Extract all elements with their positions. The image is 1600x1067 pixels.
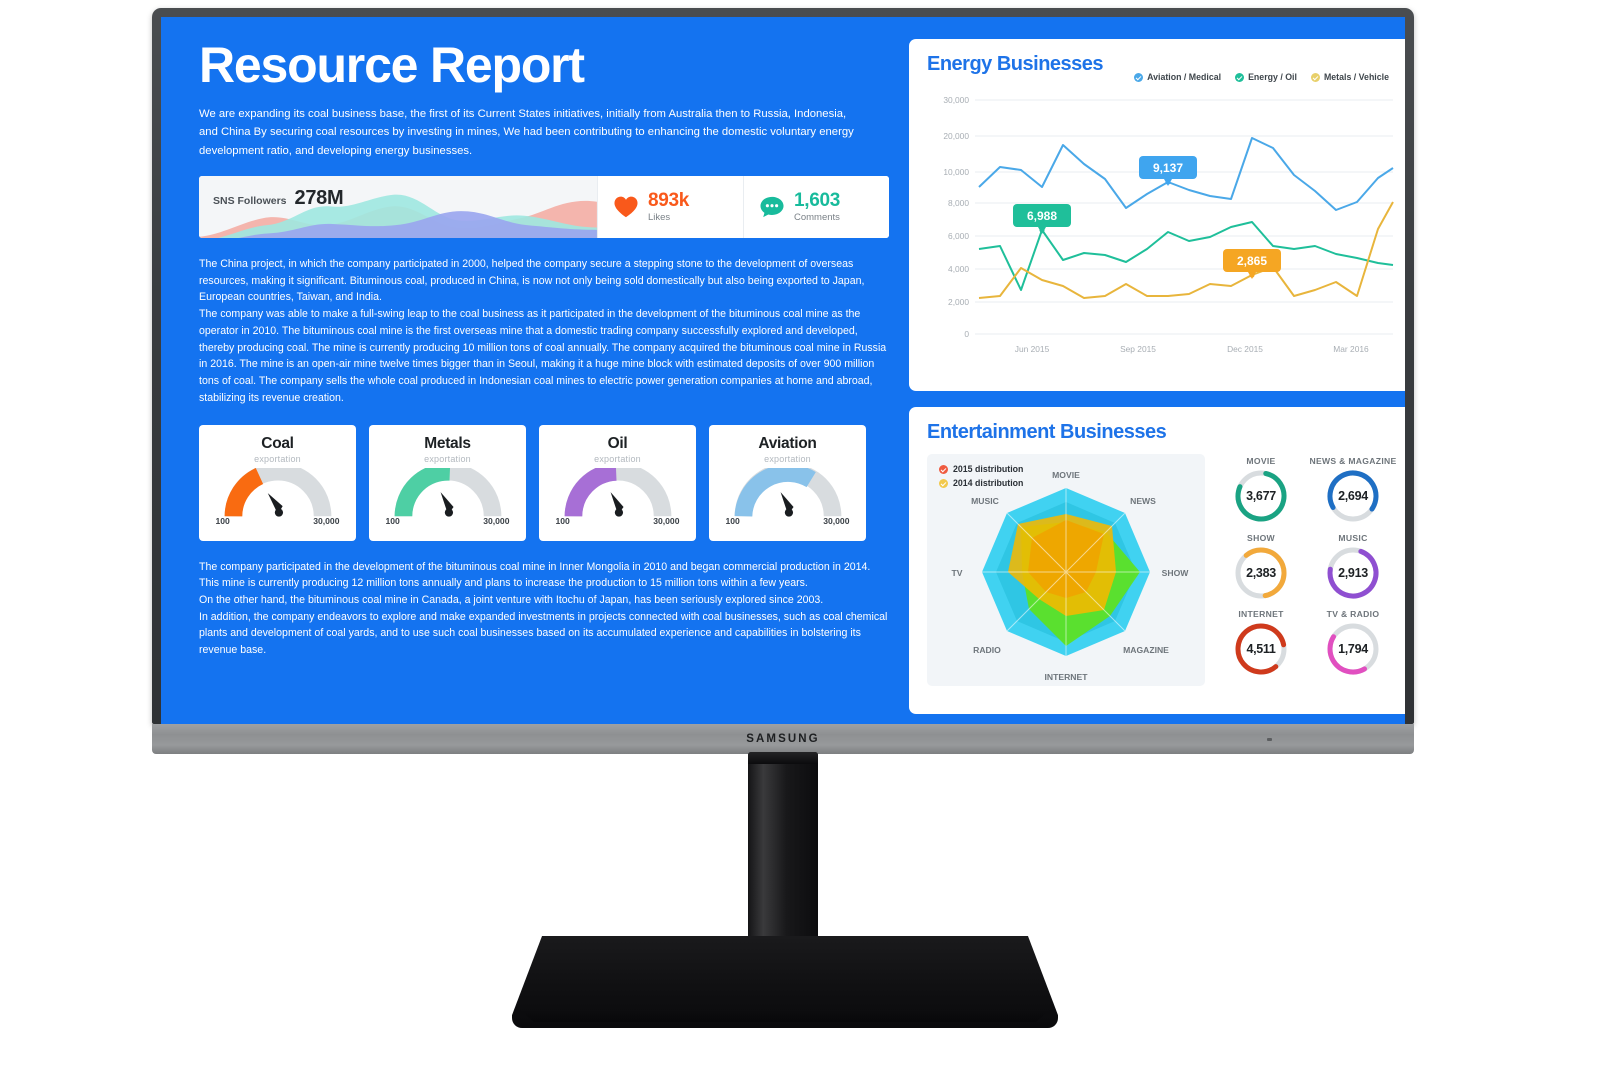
energy-businesses-panel: Energy Businesses Aviation / Medical Ene… xyxy=(909,39,1405,391)
screenshot-root: Resource Report We are expanding its coa… xyxy=(0,0,1600,1067)
legend-item-metals-vehicle[interactable]: Metals / Vehicle xyxy=(1311,72,1389,82)
donut-card-news-magazine[interactable]: NEWS & MAGAZINE 2,694 xyxy=(1309,456,1397,533)
body-paragraph: The company was able to make a full-swin… xyxy=(199,306,889,406)
donut-value: 2,913 xyxy=(1324,544,1382,602)
samsung-logo: SAMSUNG xyxy=(746,733,819,745)
gauge-max: 30,000 xyxy=(313,516,339,526)
comment-icon xyxy=(759,195,785,219)
gauge-card-metals[interactable]: Metals exportation 100 30,000 xyxy=(369,425,526,541)
svg-text:2,865: 2,865 xyxy=(1237,254,1267,268)
body-paragraph: The China project, in which the company … xyxy=(199,256,889,306)
gauge-card-aviation[interactable]: Aviation exportation 100 30,000 xyxy=(709,425,866,541)
body-copy-bottom: The company participated in the developm… xyxy=(199,559,889,659)
gauge-dial xyxy=(558,468,678,520)
check-circle-icon xyxy=(1235,73,1244,82)
gauge-min: 100 xyxy=(216,516,230,526)
entertainment-businesses-panel: Entertainment Businesses 2015 distributi… xyxy=(909,407,1405,714)
legend-label: Aviation / Medical xyxy=(1147,72,1221,82)
likes-value: 893k xyxy=(648,190,689,212)
donut-label: INTERNET xyxy=(1238,609,1283,619)
donut-label: NEWS & MAGAZINE xyxy=(1309,456,1396,466)
gauge-title: Coal xyxy=(261,435,293,453)
donut-card-internet[interactable]: INTERNET 4,511 xyxy=(1217,609,1305,686)
donut-value: 3,677 xyxy=(1232,467,1290,525)
footer-paragraph: On the other hand, the bituminous coal m… xyxy=(199,592,889,609)
intro-paragraph: We are expanding its coal business base,… xyxy=(199,105,859,160)
gauge-max: 30,000 xyxy=(823,516,849,526)
energy-line-chart: 30,000 20,000 10,000 8,000 6,000 4,000 2… xyxy=(927,86,1397,363)
footer-paragraph: The company participated in the developm… xyxy=(199,559,889,592)
donut-card-tv-radio[interactable]: TV & RADIO 1,794 xyxy=(1309,609,1397,686)
svg-text:9,137: 9,137 xyxy=(1153,161,1183,175)
donut-label: MUSIC xyxy=(1338,533,1367,543)
donut-value: 4,511 xyxy=(1232,620,1290,678)
svg-text:Mar 2016: Mar 2016 xyxy=(1333,344,1369,354)
radar-chart: 2015 distribution 2014 distribution xyxy=(927,454,1205,686)
sns-followers-value: 278M xyxy=(295,187,344,210)
gauge-subtitle: exportation xyxy=(254,454,301,464)
donut-ring: 4,511 xyxy=(1232,620,1290,678)
legend-item-2015[interactable]: 2015 distribution xyxy=(939,464,1023,474)
svg-text:6,000: 6,000 xyxy=(948,231,969,241)
svg-text:0: 0 xyxy=(964,329,969,339)
monitor-bottom-bezel: SAMSUNG xyxy=(152,724,1414,754)
radar-legend: 2015 distribution 2014 distribution xyxy=(939,464,1023,492)
power-led-indicator xyxy=(1267,738,1272,741)
sns-followers-card: SNS Followers 278M xyxy=(199,176,597,238)
radar-axis-movie: MOVIE xyxy=(1052,470,1080,480)
donut-card-show[interactable]: SHOW 2,383 xyxy=(1217,533,1305,610)
gauge-subtitle: exportation xyxy=(594,454,641,464)
donut-value: 1,794 xyxy=(1324,620,1382,678)
svg-text:Jun 2015: Jun 2015 xyxy=(1015,344,1050,354)
entertainment-panel-title: Entertainment Businesses xyxy=(927,421,1397,444)
svg-text:6,988: 6,988 xyxy=(1027,209,1057,223)
radar-axis-show: SHOW xyxy=(1162,568,1190,578)
svg-text:2,000: 2,000 xyxy=(948,297,969,307)
likes-text: 893k Likes xyxy=(648,190,689,224)
page-title: Resource Report xyxy=(199,39,889,91)
gauge-min: 100 xyxy=(726,516,740,526)
gauge-title: Aviation xyxy=(758,435,816,453)
check-circle-icon xyxy=(939,479,948,488)
legend-label: 2014 distribution xyxy=(953,478,1023,488)
monitor-frame: Resource Report We are expanding its coa… xyxy=(152,8,1414,724)
energy-chart-svg: 30,000 20,000 10,000 8,000 6,000 4,000 2… xyxy=(927,86,1397,358)
legend-item-aviation-medical[interactable]: Aviation / Medical xyxy=(1134,72,1221,82)
gauge-card-row: Coal exportation 100 30,000 xyxy=(199,425,889,541)
gauge-max: 30,000 xyxy=(653,516,679,526)
donut-ring: 2,913 xyxy=(1324,544,1382,602)
donut-card-music[interactable]: MUSIC 2,913 xyxy=(1309,533,1397,610)
radar-axis-tv: TV xyxy=(952,568,963,578)
gauge-dial xyxy=(388,468,508,520)
check-circle-icon xyxy=(1134,73,1143,82)
svg-text:30,000: 30,000 xyxy=(943,95,969,105)
annotation-2865: 2,865 xyxy=(1223,249,1281,279)
right-column: Energy Businesses Aviation / Medical Ene… xyxy=(909,39,1405,714)
check-circle-icon xyxy=(939,465,948,474)
gauge-dial xyxy=(218,468,338,520)
donut-label: SHOW xyxy=(1247,533,1275,543)
radar-axis-news: NEWS xyxy=(1130,496,1156,506)
comments-value: 1,603 xyxy=(794,190,840,212)
sns-likes-card: 893k Likes xyxy=(597,176,743,238)
donut-ring: 2,383 xyxy=(1232,544,1290,602)
annotation-9137: 9,137 xyxy=(1139,156,1197,186)
donut-ring: 3,677 xyxy=(1232,467,1290,525)
radar-axis-magazine: MAGAZINE xyxy=(1123,645,1169,655)
donut-label: MOVIE xyxy=(1246,456,1275,466)
gauge-max: 30,000 xyxy=(483,516,509,526)
monitor-stand-base-lip xyxy=(512,1010,1058,1022)
radar-axis-music: MUSIC xyxy=(971,496,999,506)
legend-item-2014[interactable]: 2014 distribution xyxy=(939,478,1023,488)
comments-label: Comments xyxy=(794,213,840,224)
gauge-scale: 100 30,000 xyxy=(386,516,510,526)
monitor-screen: Resource Report We are expanding its coa… xyxy=(161,17,1405,724)
donut-value: 2,383 xyxy=(1232,544,1290,602)
footer-paragraph: In addition, the company endeavors to ex… xyxy=(199,609,889,659)
gauge-dial xyxy=(728,468,848,520)
radar-axis-internet: INTERNET xyxy=(1045,672,1089,682)
svg-text:10,000: 10,000 xyxy=(943,167,969,177)
gauge-scale: 100 30,000 xyxy=(216,516,340,526)
legend-label: 2015 distribution xyxy=(953,464,1023,474)
legend-item-energy-oil[interactable]: Energy / Oil xyxy=(1235,72,1297,82)
donut-ring: 2,694 xyxy=(1324,467,1382,525)
svg-text:Sep 2015: Sep 2015 xyxy=(1120,344,1156,354)
svg-text:20,000: 20,000 xyxy=(943,131,969,141)
sns-followers-label: SNS Followers xyxy=(213,195,287,207)
legend-label: Metals / Vehicle xyxy=(1324,72,1389,82)
heart-icon xyxy=(613,195,639,219)
comments-text: 1,603 Comments xyxy=(794,190,840,224)
gauge-subtitle: exportation xyxy=(424,454,471,464)
gauge-title: Oil xyxy=(608,435,628,453)
gauge-card-oil[interactable]: Oil exportation 100 30,000 xyxy=(539,425,696,541)
likes-label: Likes xyxy=(648,213,689,224)
svg-text:4,000: 4,000 xyxy=(948,264,969,274)
monitor-stand-neck xyxy=(748,752,818,944)
sns-comments-card: 1,603 Comments xyxy=(743,176,889,238)
body-copy-top: The China project, in which the company … xyxy=(199,256,889,407)
entertainment-body: 2015 distribution 2014 distribution xyxy=(927,454,1397,686)
donut-label: TV & RADIO xyxy=(1327,609,1380,619)
svg-text:Dec 2015: Dec 2015 xyxy=(1227,344,1263,354)
gauge-scale: 100 30,000 xyxy=(726,516,850,526)
left-column: Resource Report We are expanding its coa… xyxy=(199,39,889,714)
report-page: Resource Report We are expanding its coa… xyxy=(161,17,1405,724)
gauge-title: Metals xyxy=(424,435,470,453)
radar-axis-radio: RADIO xyxy=(973,645,1001,655)
donut-card-movie[interactable]: MOVIE 3,677 xyxy=(1217,456,1305,533)
gauge-min: 100 xyxy=(386,516,400,526)
sns-followers-text: SNS Followers 278M xyxy=(199,176,343,210)
donut-value: 2,694 xyxy=(1324,467,1382,525)
sns-stats-bar: SNS Followers 278M xyxy=(199,176,889,238)
gauge-scale: 100 30,000 xyxy=(556,516,680,526)
check-circle-icon xyxy=(1311,73,1320,82)
donut-metrics-grid: MOVIE 3,677 xyxy=(1217,454,1397,686)
gauge-min: 100 xyxy=(556,516,570,526)
gauge-card-coal[interactable]: Coal exportation 100 30,000 xyxy=(199,425,356,541)
legend-label: Energy / Oil xyxy=(1248,72,1297,82)
donut-ring: 1,794 xyxy=(1324,620,1382,678)
annotation-6988: 6,988 xyxy=(1013,204,1071,234)
gauge-subtitle: exportation xyxy=(764,454,811,464)
svg-text:8,000: 8,000 xyxy=(948,198,969,208)
